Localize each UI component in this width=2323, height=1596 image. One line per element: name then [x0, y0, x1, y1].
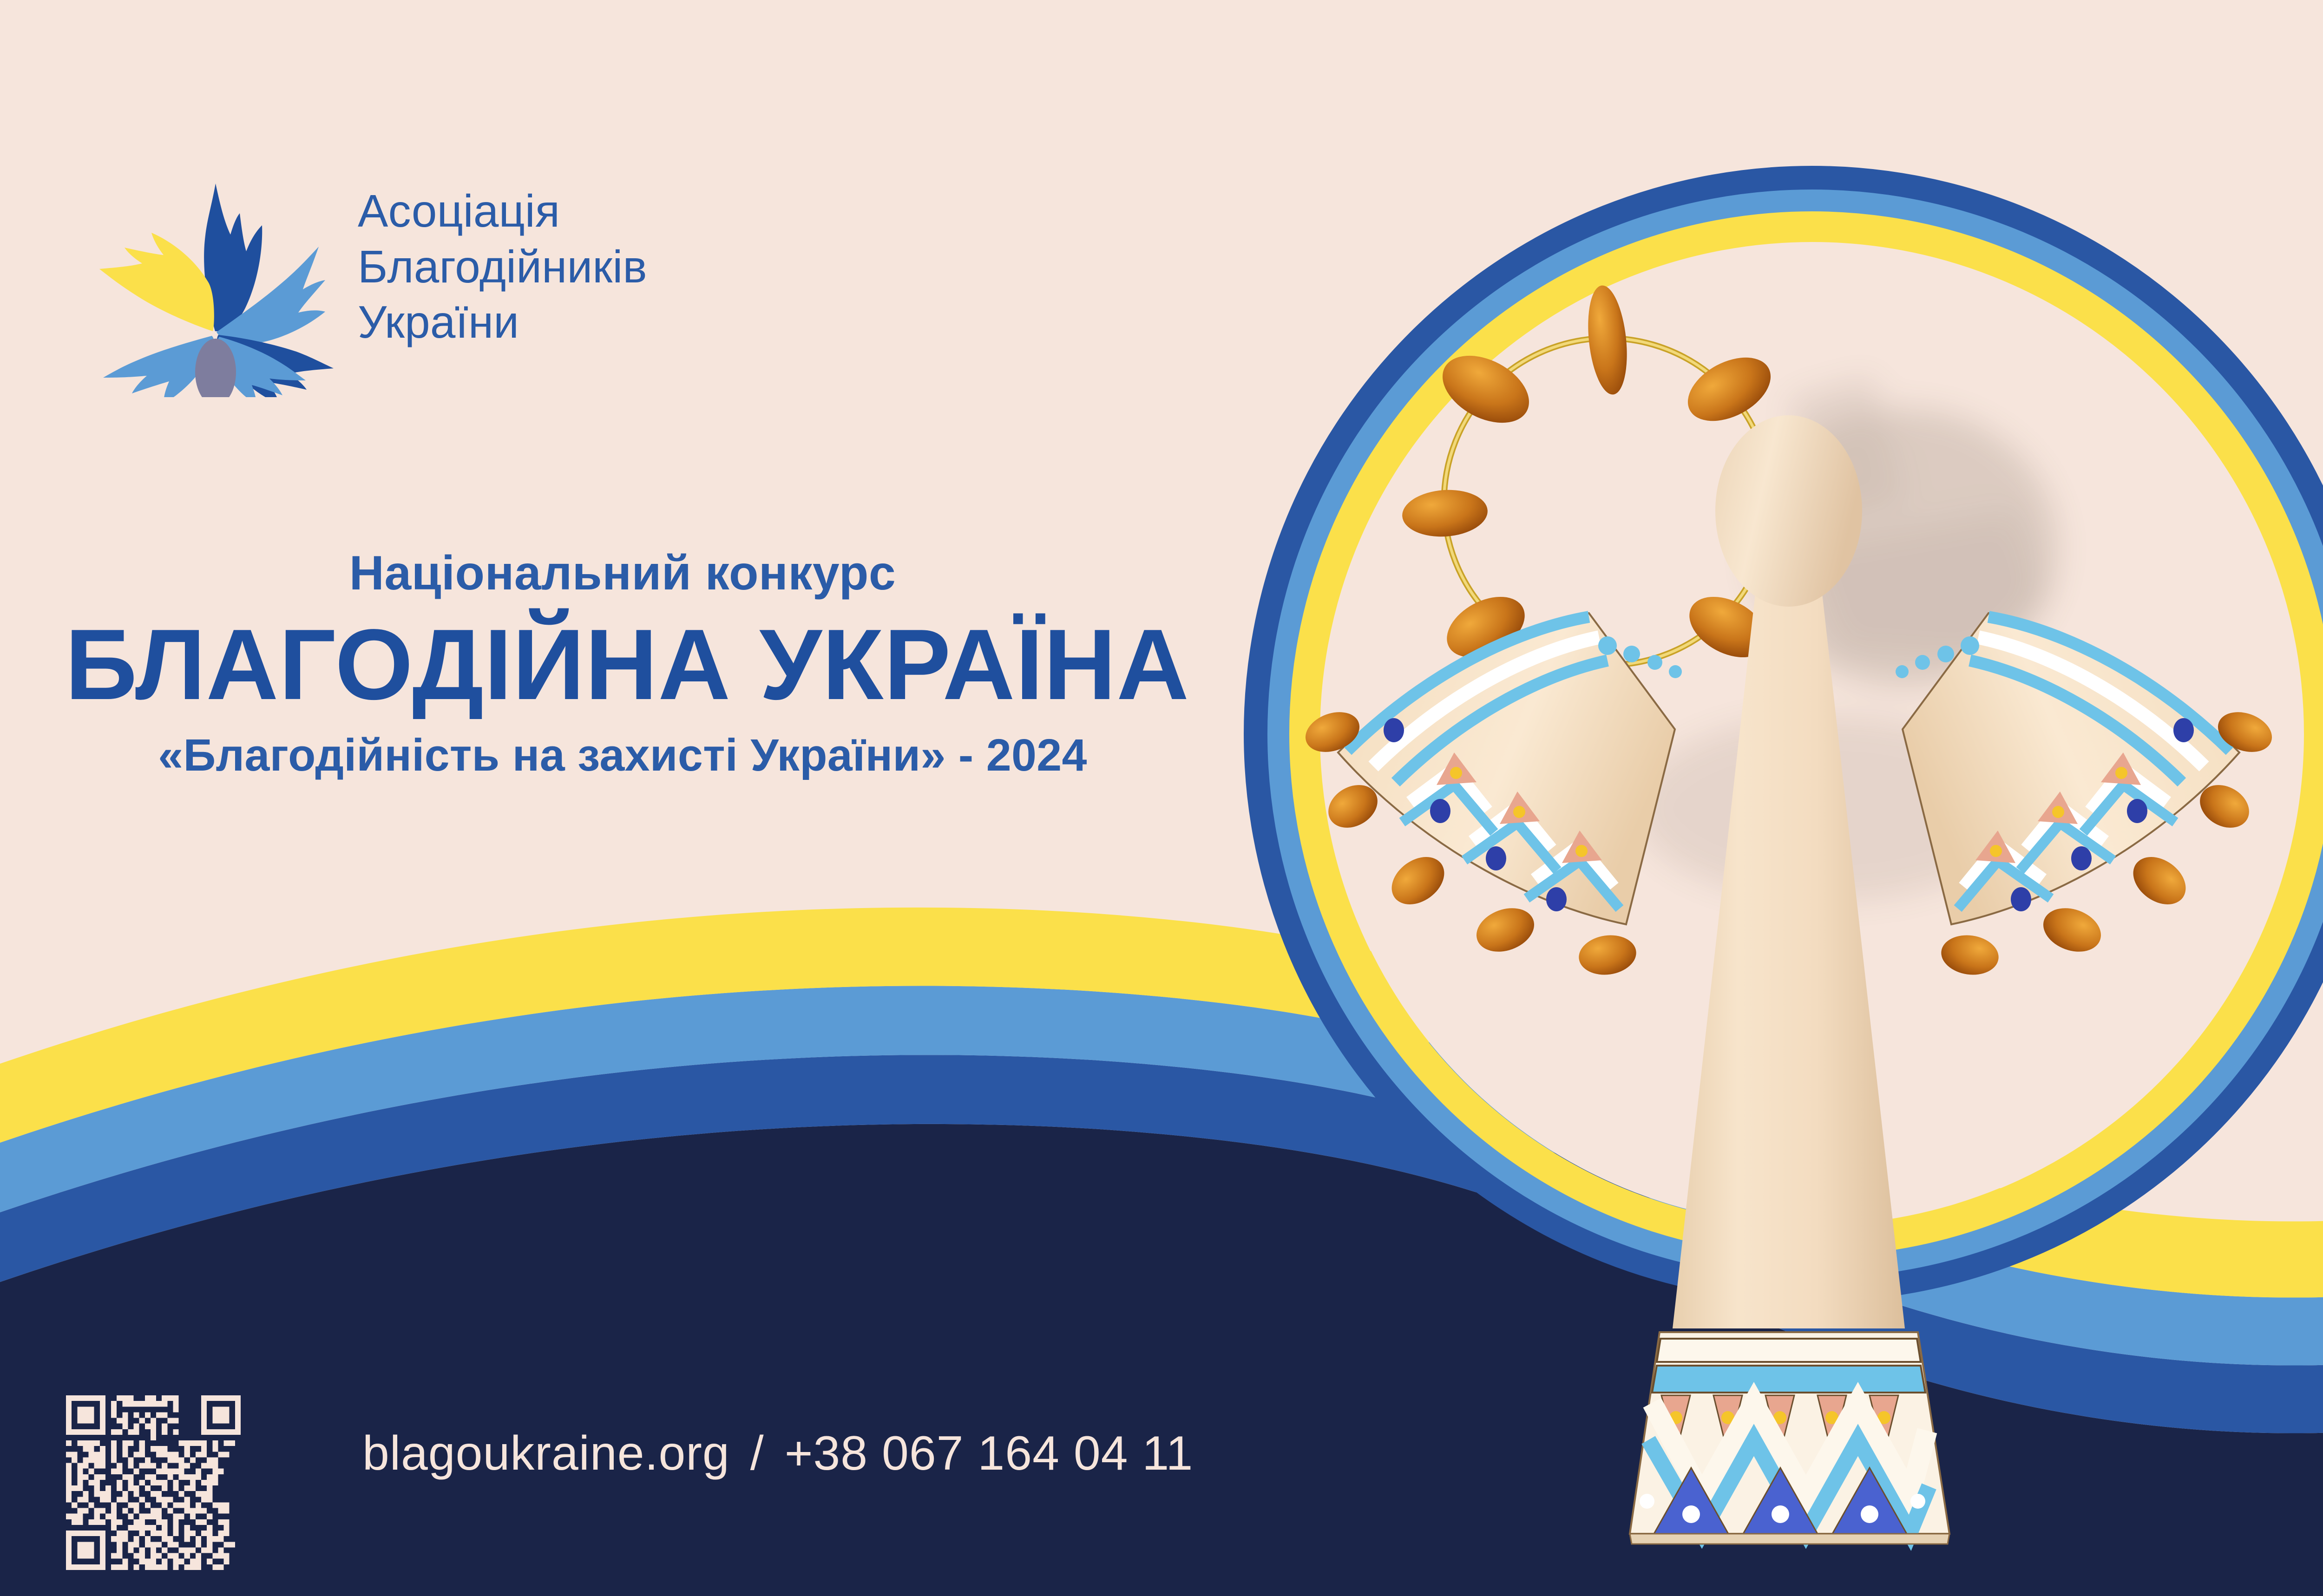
qr-code[interactable]: [60, 1390, 246, 1576]
headline-block: Національний конкурс БЛАГОДІЙНА УКРАЇНА …: [65, 546, 1180, 781]
promo-banner: Асоціація Благодійників України Націонал…: [0, 0, 2323, 1596]
logo-line-1: Асоціація: [358, 183, 647, 239]
contest-kicker: Національний конкурс: [65, 546, 1180, 601]
angel-head: [1715, 415, 1862, 607]
base-royal-triangles: [1654, 1468, 1907, 1534]
footer-contact: blagoukraine.org / +38 067 164 04 11: [362, 1426, 1193, 1481]
leaf-petal-yellow-left: [99, 233, 214, 331]
website-link[interactable]: blagoukraine.org: [362, 1426, 730, 1481]
contest-subtitle: «Благодійність на захисті України» - 202…: [65, 729, 1180, 781]
angel-base: [1630, 1332, 1949, 1544]
right-wing: [1896, 613, 2277, 978]
chestnut-leaf-logo-icon: [97, 165, 338, 397]
logo-line-2: Благодійників: [358, 239, 647, 295]
logo-wordmark: Асоціація Благодійників України: [358, 165, 647, 350]
ceramic-angel-figurine: [1254, 260, 2323, 1596]
angel-body: [1673, 585, 1905, 1328]
page-title: БЛАГОДІЙНА УКРАЇНА: [65, 613, 1180, 715]
logo-line-3: України: [358, 294, 647, 350]
footer-separator: /: [730, 1426, 785, 1481]
phone-number[interactable]: +38 067 164 04 11: [785, 1426, 1194, 1481]
left-wing: [1300, 613, 1682, 978]
association-logo[interactable]: Асоціація Благодійників України: [97, 165, 647, 397]
